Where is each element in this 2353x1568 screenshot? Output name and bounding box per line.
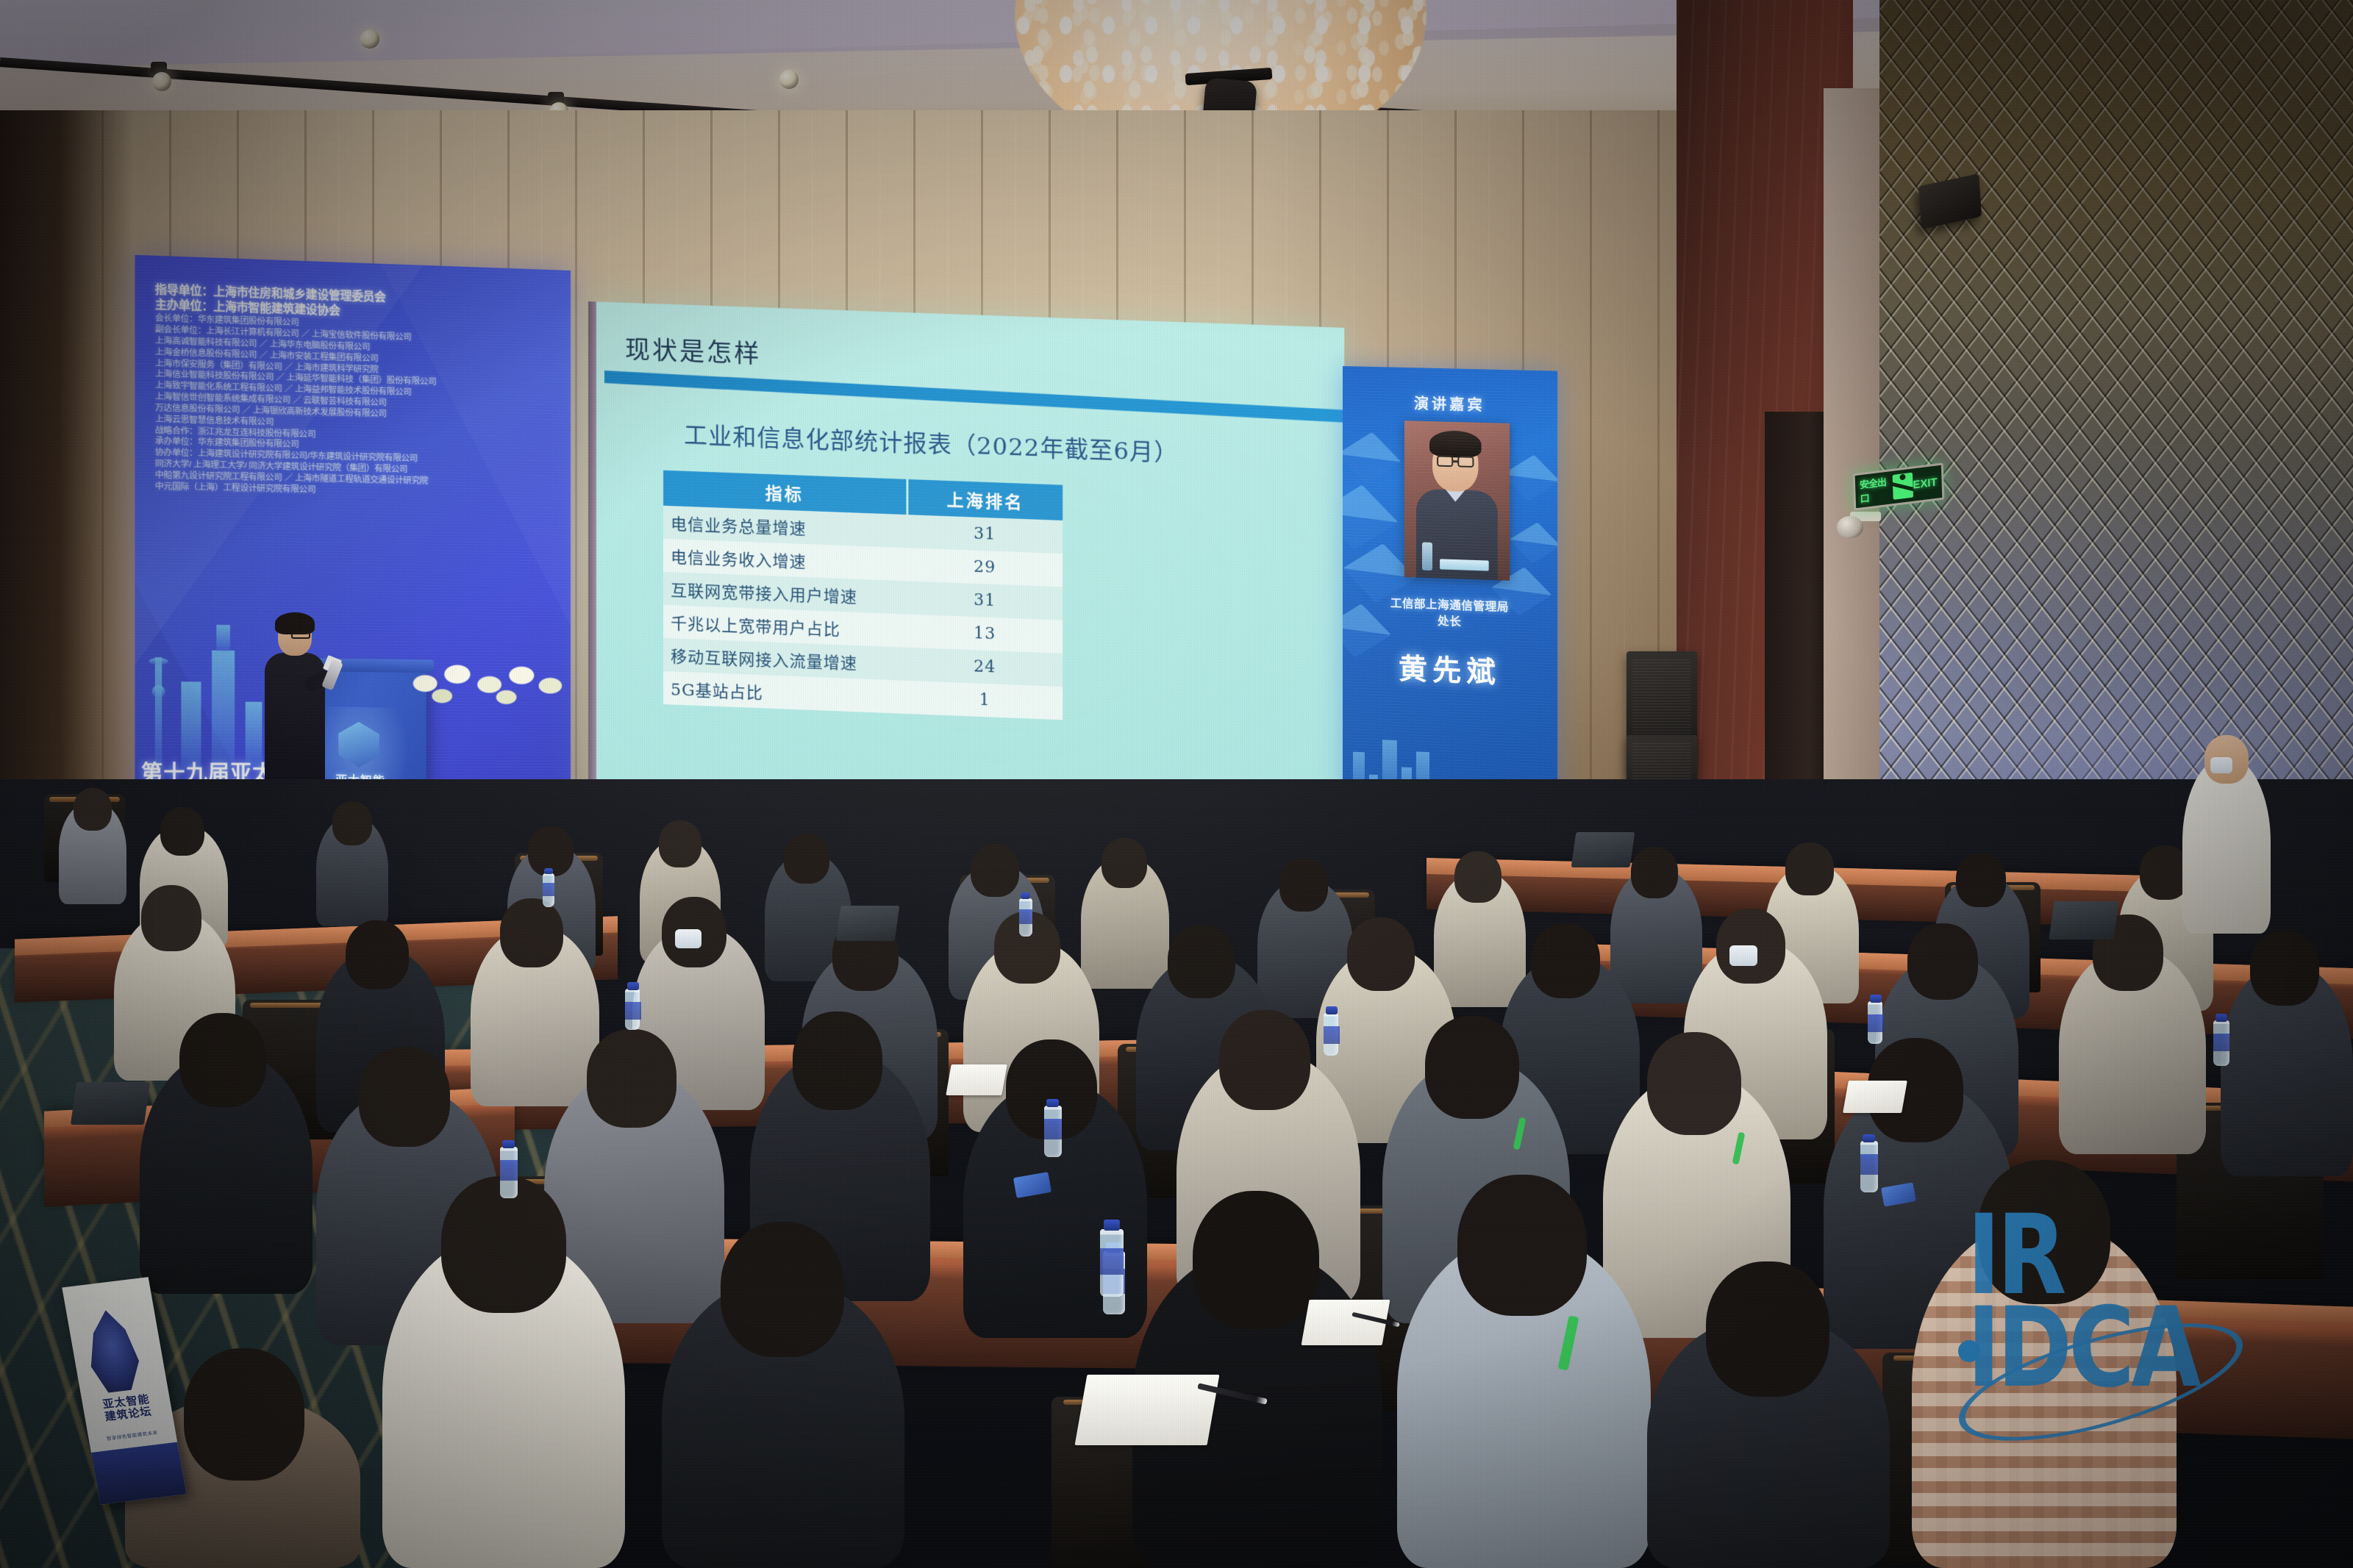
slide-divider-bar: [604, 370, 1344, 423]
camera-dome: [1837, 516, 1863, 538]
notepad: [1843, 1081, 1907, 1113]
speaker-name: 黄先斌: [1343, 644, 1557, 694]
presentation-slide: 现状是怎样 工业和信息化部统计报表（2022年截至6月） 指标 上海排名 电信业…: [588, 301, 1344, 847]
floor-sign-subtitle: 智享绿色智能建筑未来: [93, 1427, 171, 1444]
attendee-head: [1454, 851, 1502, 903]
slide-title: 现状是怎样: [625, 329, 761, 370]
statistics-table: 指标 上海排名 电信业务总量增速 31 电信业务收入增速 29 互联网宽带接入用…: [663, 470, 1063, 720]
laptop: [836, 906, 900, 941]
portrait-glasses-right: [1457, 456, 1474, 468]
slide-subtitle: 工业和信息化部统计报表（2022年截至6月）: [684, 417, 1179, 469]
notepad: [1302, 1300, 1390, 1345]
attendee-head: [359, 1047, 450, 1147]
attendee-head: [1785, 842, 1834, 895]
spotlight-1: [152, 72, 171, 91]
presenter-glasses: [291, 632, 310, 639]
presenter-hair: [275, 612, 315, 634]
attendee-head: [793, 1012, 882, 1110]
attendee-head: [659, 820, 701, 867]
recessed-light-2: [779, 70, 799, 89]
attendee-head: [784, 834, 829, 884]
attendee-head: [1425, 1016, 1519, 1119]
water-bottle: [1100, 1229, 1124, 1297]
attendee-head: [1347, 917, 1415, 991]
standing-attendee: [2182, 757, 2271, 934]
podium-logo-hex-icon: [338, 721, 379, 767]
attendee-head: [587, 1029, 676, 1128]
wall-dark-left-edge: [0, 110, 132, 853]
cell-rank: 13: [907, 615, 1063, 654]
laptop: [71, 1082, 150, 1125]
podium-flower-arrangement: [401, 651, 571, 709]
attendee-head: [141, 885, 201, 951]
attendee-head: [971, 844, 1019, 897]
attendee-head: [1907, 923, 1978, 1000]
cell-rank: 1: [907, 681, 1063, 720]
floor-sign-artwork: [77, 1307, 149, 1395]
water-bottle: [625, 989, 640, 1030]
portrait-water-bottle: [1422, 542, 1432, 570]
speaker-led-panel: 演讲嘉宾 工信部上海通信管理局 处长 黄先斌: [1343, 366, 1557, 825]
attendee-head: [184, 1348, 304, 1481]
attendee-head: [332, 801, 372, 845]
attendee-head: [1168, 925, 1235, 998]
water-bottle: [500, 1147, 518, 1198]
conference-hall-photo: 安全出口 EXIT 指导单位：上海市住房和城乡建设管理委员会 主办单位：上海市智…: [0, 0, 2353, 1568]
security-camera: [1837, 507, 1881, 540]
attendee-head: [1631, 847, 1678, 898]
portrait-nameplate: [1440, 559, 1489, 570]
column-header-rank: 上海排名: [907, 479, 1063, 520]
cell-rank: 31: [907, 581, 1063, 620]
portrait-glasses-left: [1437, 456, 1453, 468]
water-bottle: [543, 873, 554, 907]
attendee-head: [1193, 1191, 1319, 1329]
attendee-head: [2250, 931, 2319, 1006]
portrait-glasses-bridge: [1453, 460, 1457, 462]
attendee-head: [1978, 1160, 2110, 1304]
floor-sign-band: [91, 1442, 187, 1505]
cell-rank: 29: [907, 548, 1063, 587]
exit-sign-chinese-label: 安全出口: [1860, 473, 1893, 506]
attendee-head: [1457, 1175, 1587, 1316]
attendee-head: [346, 920, 409, 989]
portrait-hair: [1429, 430, 1482, 458]
attendee-head: [1279, 859, 1328, 912]
notepad: [946, 1064, 1007, 1095]
sponsor-list: 指导单位：上海市住房和城乡建设管理委员会 主办单位：上海市智能建筑建设协会 会长…: [155, 283, 556, 501]
attendee-head: [1647, 1032, 1741, 1135]
water-bottle: [1868, 1001, 1882, 1044]
face-mask: [2210, 757, 2232, 773]
face-mask: [1729, 945, 1757, 966]
face-mask: [675, 929, 701, 948]
water-bottle: [2213, 1020, 2229, 1066]
water-bottle: [1324, 1013, 1338, 1056]
attendee-head: [500, 898, 563, 967]
water-bottle: [1019, 898, 1032, 937]
laptop: [2049, 901, 2118, 939]
cell-rank: 24: [907, 648, 1063, 687]
floor-sign-title: 亚太智能 建筑论坛: [87, 1392, 168, 1425]
recessed-light-1: [360, 29, 379, 49]
screen-left-edge: [588, 301, 596, 816]
attendee-head: [74, 788, 112, 831]
attendee-head: [1531, 923, 1600, 998]
attendee-head: [1956, 853, 2006, 907]
attendee-head: [721, 1222, 844, 1357]
laptop: [1571, 832, 1635, 867]
attendee-head: [1706, 1261, 1829, 1397]
water-bottle: [1044, 1106, 1062, 1157]
cell-rank: 31: [907, 515, 1063, 554]
water-bottle: [1860, 1141, 1878, 1192]
attendee-head: [160, 807, 204, 856]
attendee-head: [1101, 838, 1147, 888]
running-man-icon: [1892, 473, 1913, 501]
exit-sign-english-label: EXIT: [1913, 476, 1938, 491]
speaker-portrait: [1404, 420, 1510, 581]
attendee-head: [1219, 1010, 1310, 1110]
attendee-head: [179, 1013, 266, 1107]
